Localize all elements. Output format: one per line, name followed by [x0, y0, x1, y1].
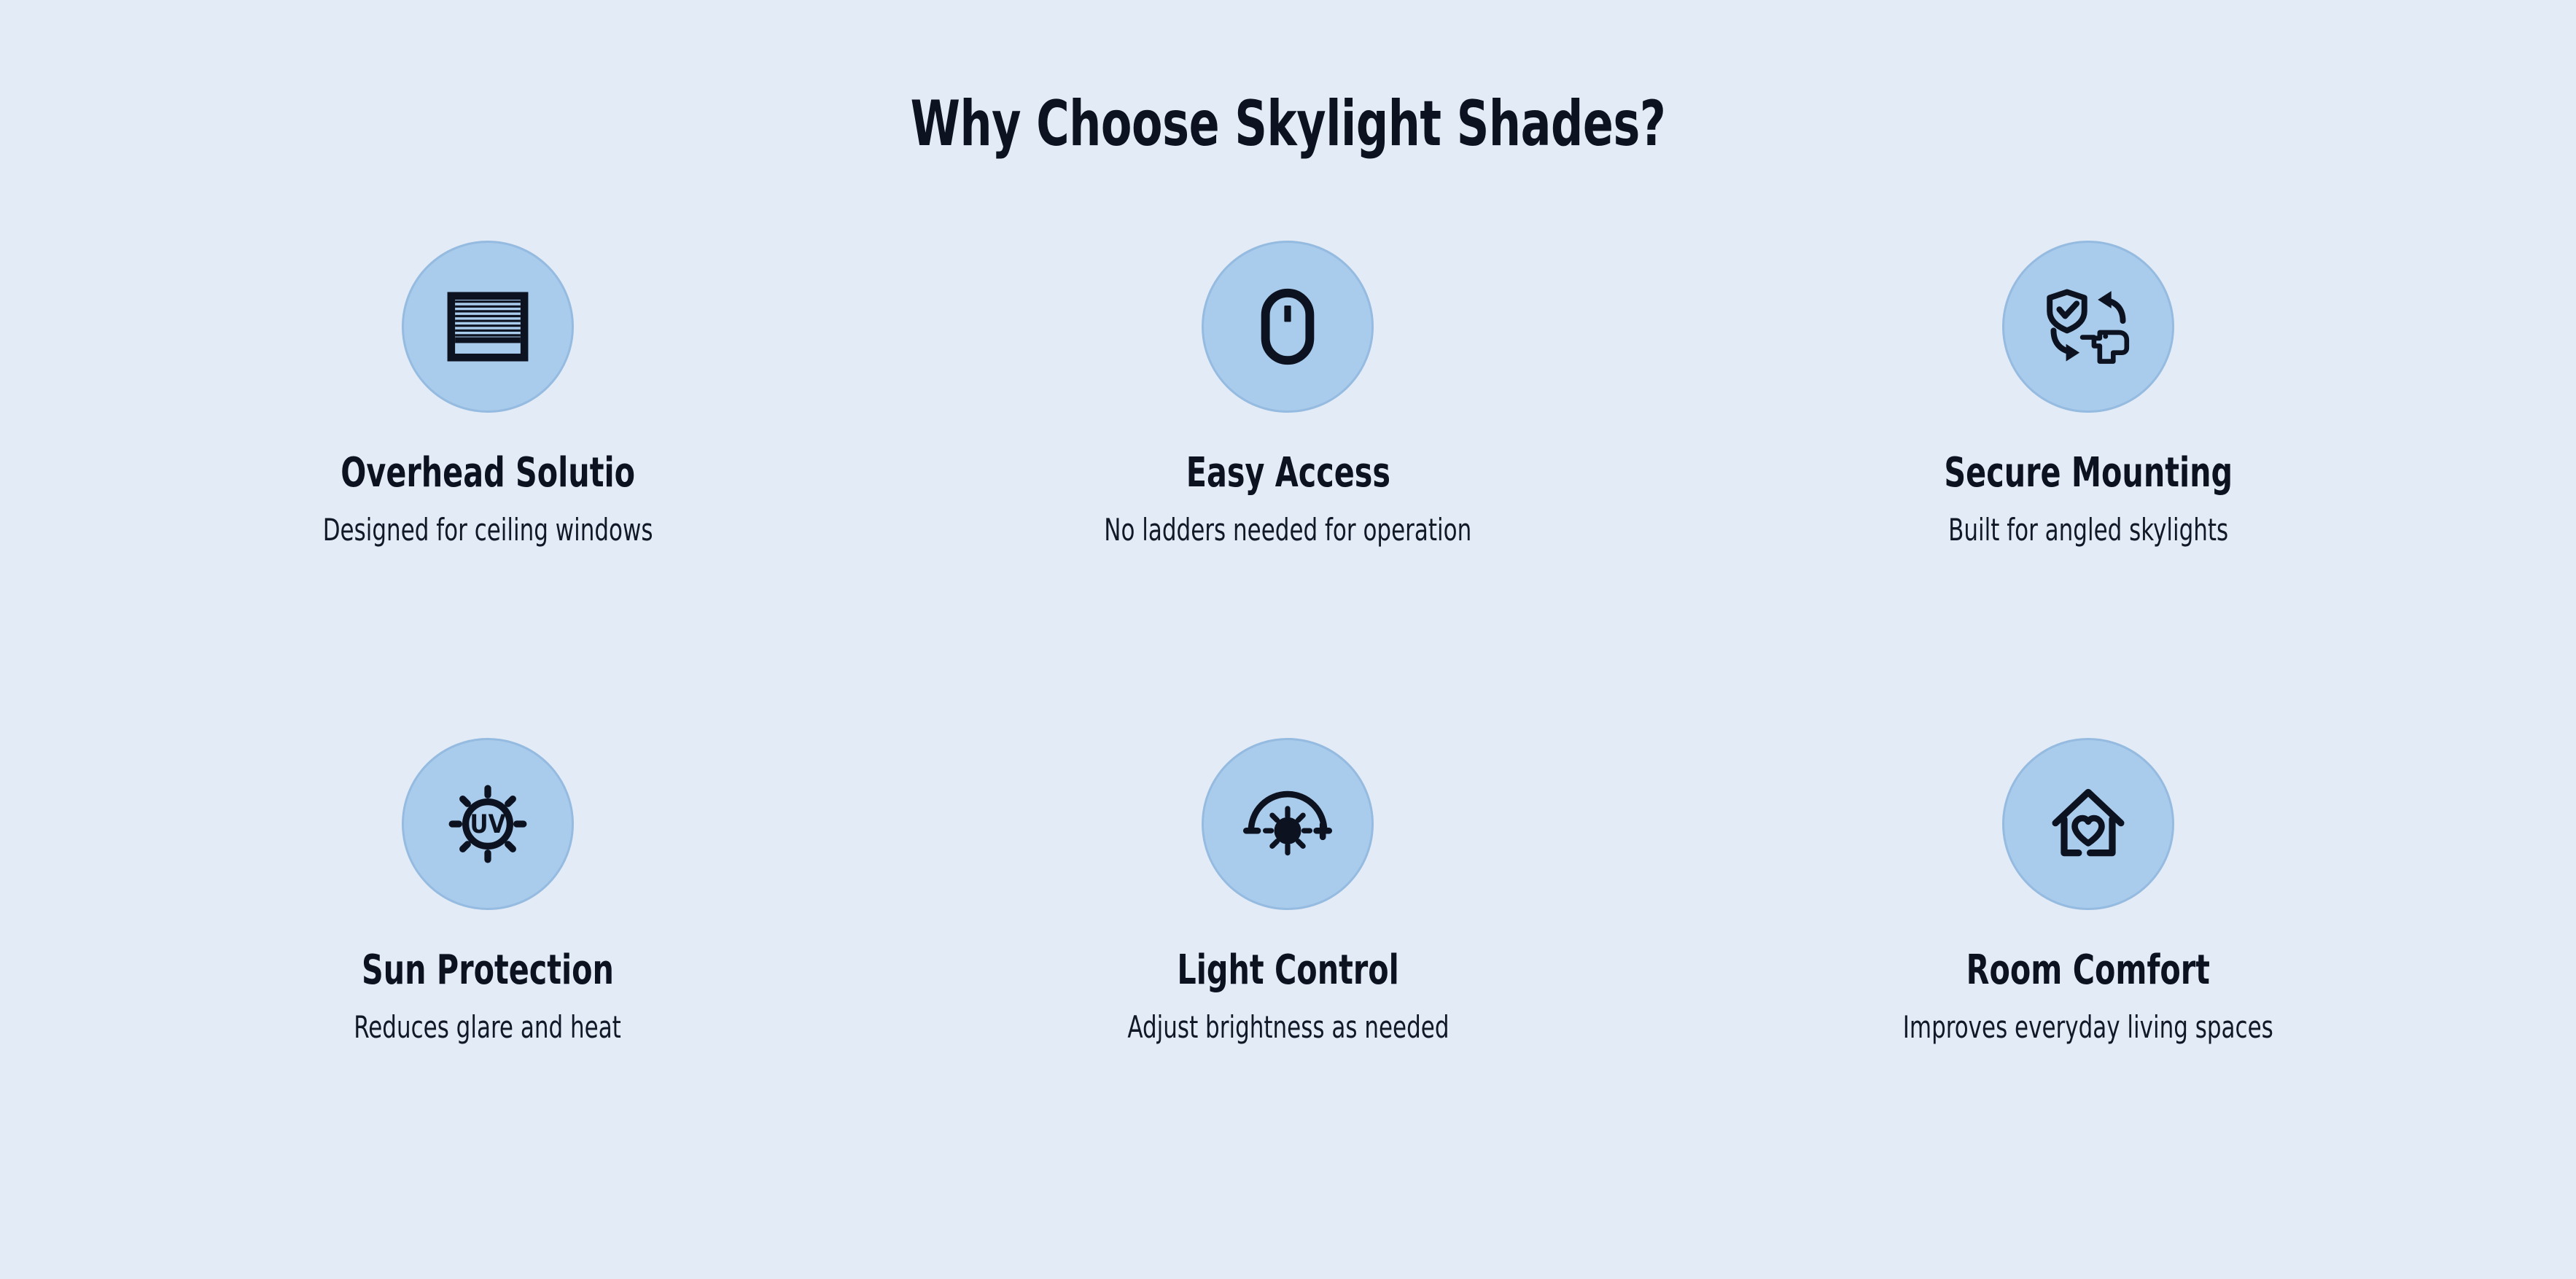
feature-card-light-control: Light Control Adjust brightness as neede…	[888, 738, 1689, 1000]
feature-card-easy-access: Easy Access No ladders needed for operat…	[888, 241, 1689, 503]
uv-label: UV	[470, 810, 505, 839]
feature-description: No ladders needed for operation	[1105, 512, 1472, 548]
feature-card-room-comfort: Room Comfort Improves everyday living sp…	[1688, 738, 2489, 1000]
icon-circle	[2002, 738, 2174, 910]
feature-description: Reduces glare and heat	[354, 1009, 622, 1046]
icon-circle	[1202, 738, 1374, 910]
feature-title: Overhead Solutio	[341, 451, 635, 496]
icon-circle	[2002, 241, 2174, 413]
page-title: Why Choose Skylight Shades?	[257, 88, 2318, 160]
icon-circle	[1202, 241, 1374, 413]
feature-description: Improves everyday living spaces	[1903, 1009, 2273, 1046]
feature-title: Secure Mounting	[1944, 451, 2233, 496]
feature-title: Room Comfort	[1966, 948, 2210, 993]
brightness-control-icon	[1240, 776, 1336, 872]
features-grid: Overhead Solutio Designed for ceiling wi…	[87, 241, 2489, 1000]
uv-sun-icon: UV	[440, 776, 536, 872]
feature-title: Light Control	[1177, 948, 1398, 993]
computer-mouse-icon	[1240, 279, 1336, 375]
feature-title: Easy Access	[1186, 451, 1390, 496]
feature-description: Adjust brightness as needed	[1127, 1009, 1449, 1046]
feature-card-secure-mounting: Secure Mounting Built for angled skyligh…	[1688, 241, 2489, 503]
shield-drill-cycle-icon	[2040, 279, 2136, 375]
feature-description: Built for angled skylights	[1948, 512, 2228, 548]
feature-title: Sun Protection	[362, 948, 614, 993]
feature-card-sun-protection: UV Sun Protection Reduces glare and heat	[87, 738, 888, 1000]
feature-section: Why Choose Skylight Shades?	[0, 0, 2576, 1279]
window-blinds-icon	[440, 279, 536, 375]
icon-circle: UV	[402, 738, 574, 910]
house-heart-icon	[2040, 776, 2136, 872]
icon-circle	[402, 241, 574, 413]
feature-description: Designed for ceiling windows	[322, 512, 653, 548]
feature-card-overhead-solution: Overhead Solutio Designed for ceiling wi…	[87, 241, 888, 503]
